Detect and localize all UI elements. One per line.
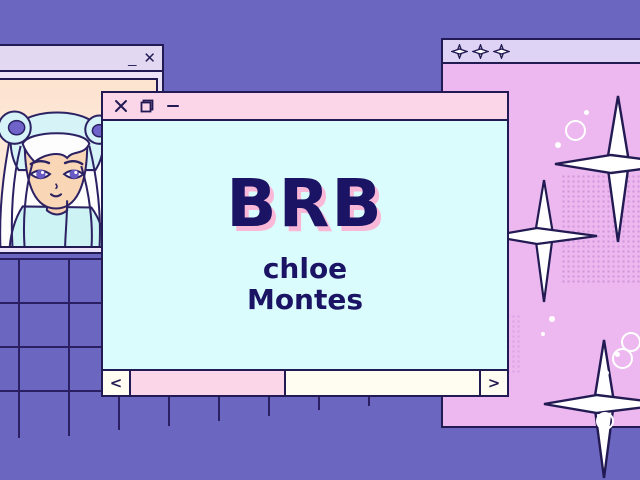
sparkle-icon	[451, 44, 468, 59]
sparkle-icon	[472, 44, 489, 59]
sparkle-icon	[493, 44, 510, 59]
minimize-icon[interactable]	[165, 98, 181, 114]
ring-decoration	[612, 348, 633, 369]
author-last-name: Montes	[247, 284, 363, 315]
author-name: chloe Montes	[247, 253, 363, 316]
dot-decoration	[603, 370, 609, 376]
close-icon[interactable]	[113, 98, 129, 114]
close-icon[interactable]: ✕	[143, 51, 156, 66]
brb-window-content: BRB chloe Montes	[103, 121, 507, 369]
scrollbar-thumb[interactable]	[131, 371, 286, 395]
brb-window[interactable]: BRB chloe Montes < >	[101, 91, 509, 397]
scroll-left-button[interactable]: <	[103, 371, 131, 395]
author-first-name: chloe	[247, 253, 363, 284]
scrollbar-track[interactable]	[131, 371, 479, 395]
scroll-right-button[interactable]: >	[479, 371, 507, 395]
sparkle-window-titlebar[interactable]	[443, 40, 640, 64]
brb-window-titlebar[interactable]	[103, 93, 507, 121]
screenshot-canvas: _ ✕	[0, 0, 640, 480]
minimize-icon[interactable]: _	[128, 51, 136, 66]
dot-decoration	[549, 316, 555, 322]
ring-decoration	[596, 412, 614, 430]
dot-decoration	[541, 332, 545, 336]
photo-window-titlebar[interactable]: _ ✕	[0, 46, 162, 72]
horizontal-scrollbar[interactable]: < >	[103, 369, 507, 395]
page-title: BRB	[226, 171, 383, 237]
restore-icon[interactable]	[139, 98, 155, 114]
